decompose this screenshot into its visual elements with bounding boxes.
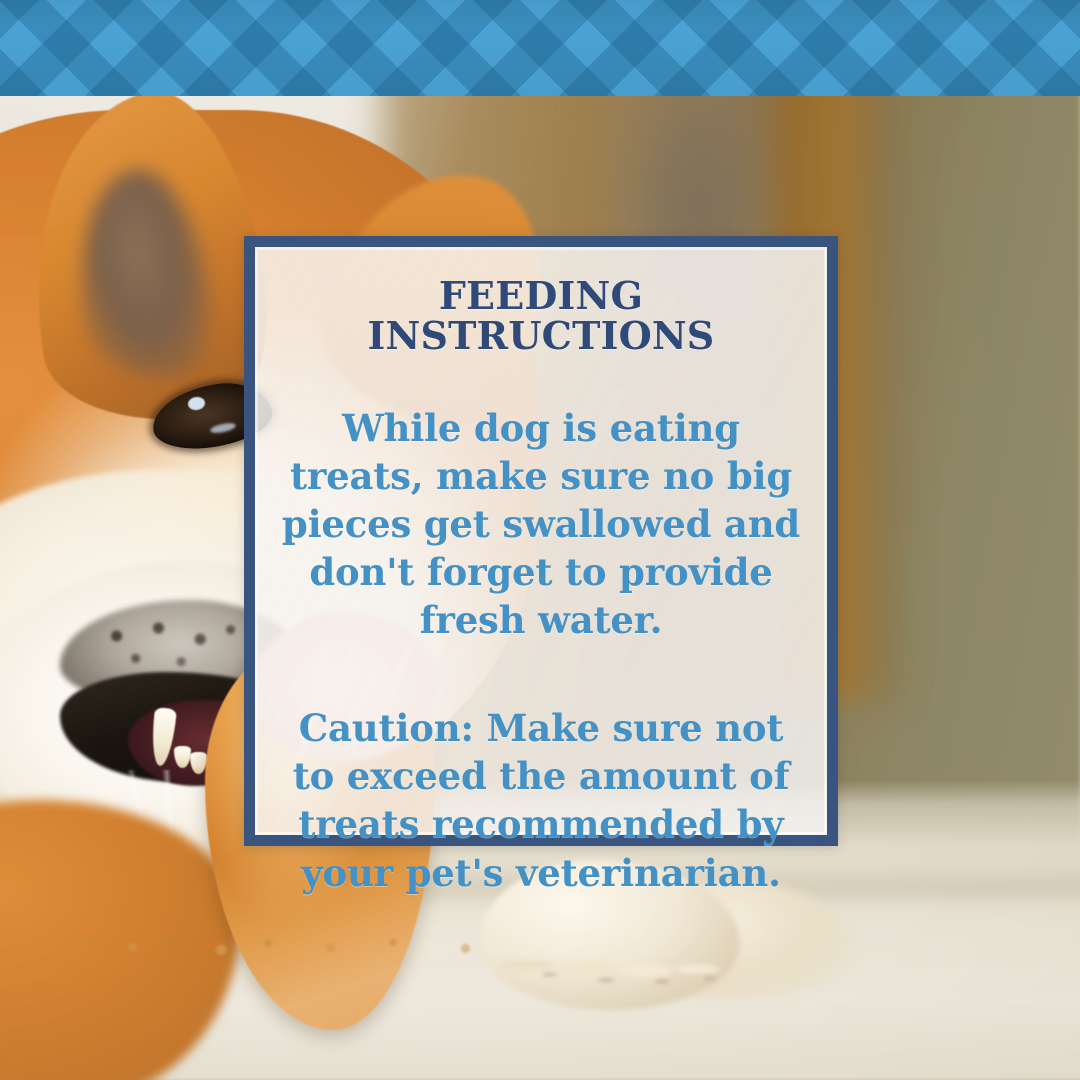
card-body: While dog is eating treats, make sure no…	[280, 404, 802, 897]
dog-paw-nails	[530, 960, 730, 996]
instruction-paragraph-feeding: While dog is eating treats, make sure no…	[280, 404, 802, 644]
card-inner-panel: FEEDING INSTRUCTIONS While dog is eating…	[255, 247, 827, 835]
poster-canvas: FEEDING INSTRUCTIONS While dog is eating…	[0, 0, 1080, 1080]
gingham-shading-overlay	[0, 0, 1080, 96]
page-title: FEEDING INSTRUCTIONS	[280, 276, 802, 356]
treat-crumbs	[60, 926, 580, 960]
feeding-instructions-card: FEEDING INSTRUCTIONS While dog is eating…	[244, 236, 838, 846]
instruction-paragraph-caution: Caution: Make sure not to exceed the amo…	[280, 704, 802, 896]
dog-canine-tooth-left	[149, 707, 177, 767]
gingham-pattern-banner	[0, 0, 1080, 96]
dog-incisor-tooth	[174, 746, 191, 768]
